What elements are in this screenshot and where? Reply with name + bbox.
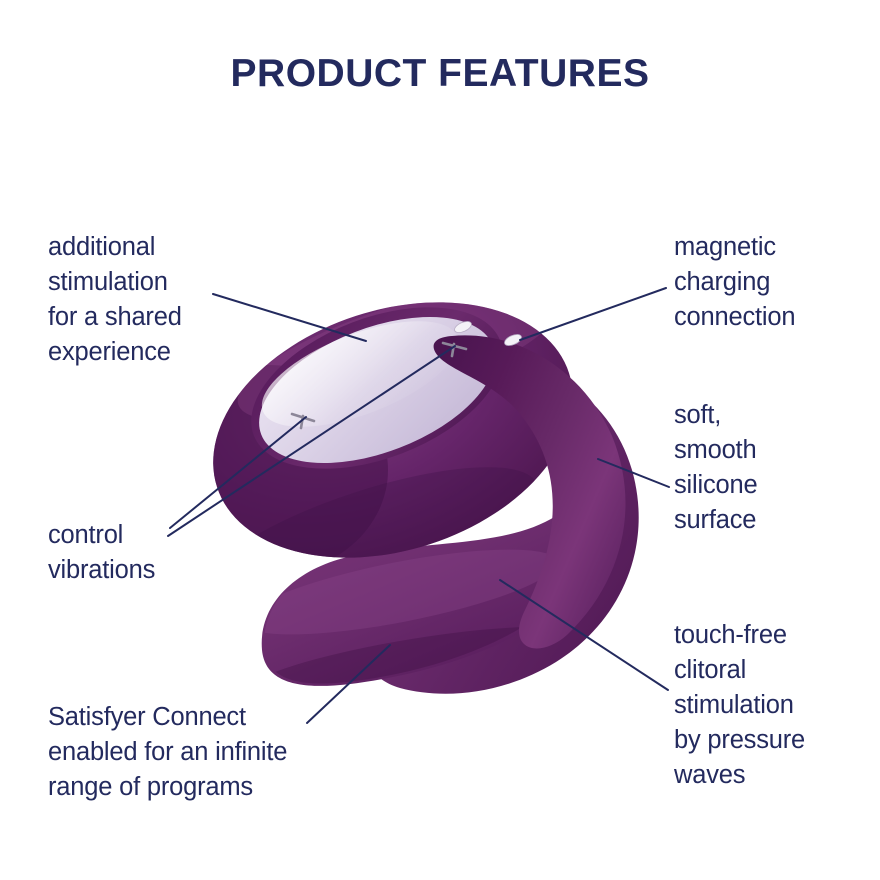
product-features-page: PRODUCT FEATURES bbox=[0, 0, 880, 880]
callout-magnetic-charging: magnetic charging connection bbox=[674, 230, 880, 335]
page-title: PRODUCT FEATURES bbox=[0, 54, 880, 93]
callout-control-vibrations: control vibrations bbox=[48, 518, 278, 588]
callout-satisfyer-connect: Satisfyer Connect enabled for an infinit… bbox=[48, 700, 398, 805]
charging-contact-1 bbox=[453, 319, 473, 335]
callout-additional-stimulation: additional stimulation for a shared expe… bbox=[48, 230, 278, 370]
product-lower-arm bbox=[262, 506, 604, 686]
leader-line-soft-silicone bbox=[598, 459, 669, 487]
leader-line-control-vibrations-a bbox=[170, 417, 306, 528]
callout-touch-free: touch-free clitoral stimulation by press… bbox=[674, 618, 880, 793]
control-button-plus[interactable] bbox=[443, 343, 466, 356]
leader-line-touch-free bbox=[500, 580, 668, 690]
leader-line-control-vibrations-b bbox=[168, 346, 455, 536]
arm-highlight bbox=[237, 532, 563, 652]
product-right-lobe bbox=[370, 359, 638, 694]
charging-contact-2 bbox=[503, 332, 523, 348]
product-bridge bbox=[434, 335, 626, 648]
leader-line-magnetic-charging bbox=[520, 288, 666, 340]
callout-soft-silicone: soft, smooth silicone surface bbox=[674, 398, 874, 538]
control-panel bbox=[239, 288, 515, 493]
control-button-minus[interactable] bbox=[292, 414, 314, 428]
control-panel-sheen bbox=[249, 299, 472, 448]
